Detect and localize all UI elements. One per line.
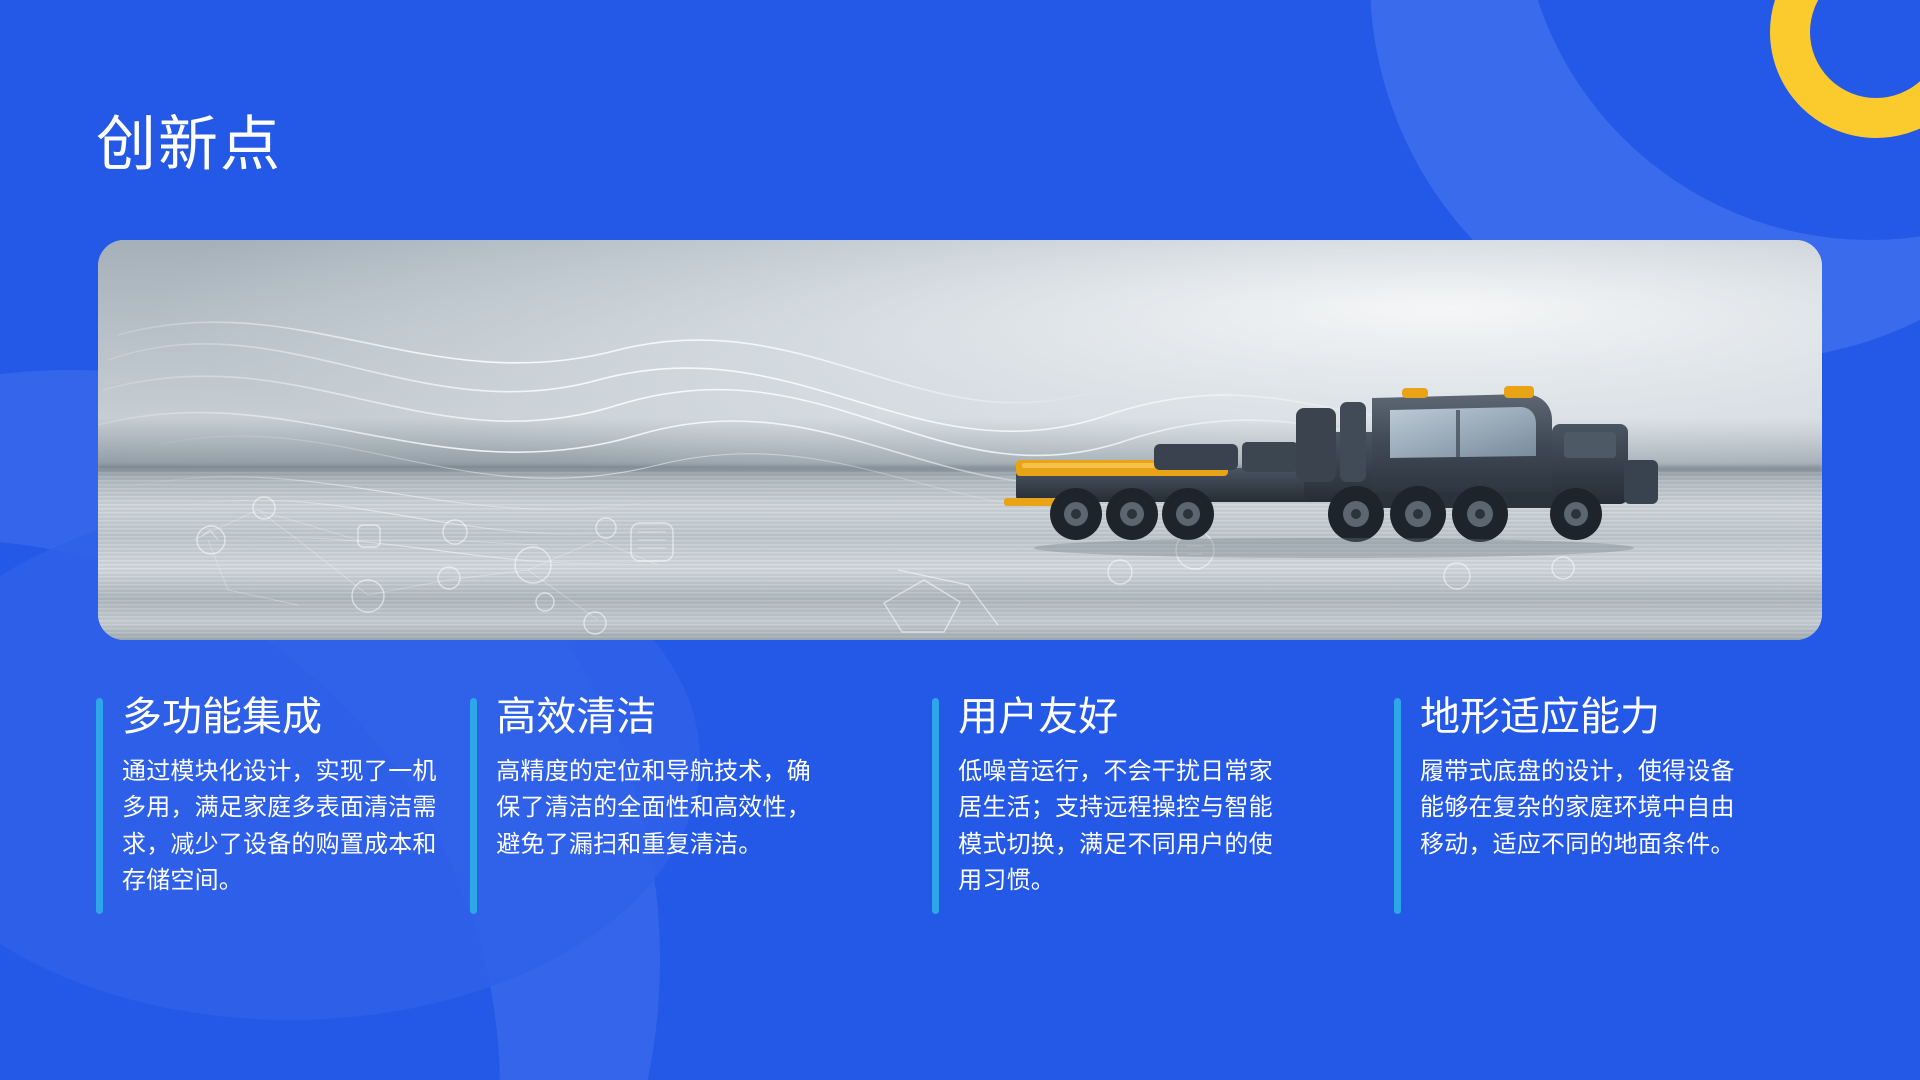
feature-body: 低噪音运行，不会干扰日常家居生活；支持远程操控与智能模式切换，满足不同用户的使用…	[958, 754, 1278, 900]
feature-body: 通过模块化设计，实现了一机多用，满足家庭多表面清洁需求，减少了设备的购置成本和存…	[122, 754, 452, 900]
feature-body: 高精度的定位和导航技术，确保了清洁的全面性和高效性，避免了漏扫和重复清洁。	[496, 754, 816, 863]
feature-column-2: 高效清洁 高精度的定位和导航技术，确保了清洁的全面性和高效性，避免了漏扫和重复清…	[470, 692, 930, 900]
feature-column-3: 用户友好 低噪音运行，不会干扰日常家居生活；支持远程操控与智能模式切换，满足不同…	[932, 692, 1392, 900]
feature-accent-bar	[932, 698, 939, 914]
page-title: 创新点	[96, 112, 282, 178]
feature-body: 履带式底盘的设计，使得设备能够在复杂的家庭环境中自由移动，适应不同的地面条件。	[1420, 754, 1750, 863]
feature-title: 地形适应能力	[1420, 692, 1834, 742]
feature-columns: 多功能集成 通过模块化设计，实现了一机多用，满足家庭多表面清洁需求，减少了设备的…	[96, 692, 1836, 900]
feature-title: 高效清洁	[496, 692, 930, 742]
feature-column-1: 多功能集成 通过模块化设计，实现了一机多用，满足家庭多表面清洁需求，减少了设备的…	[96, 692, 468, 900]
feature-column-4: 地形适应能力 履带式底盘的设计，使得设备能够在复杂的家庭环境中自由移动，适应不同…	[1394, 692, 1834, 900]
truck-illustration	[1004, 372, 1704, 582]
feature-accent-bar	[1394, 698, 1401, 914]
slide-canvas: 创新点	[0, 0, 1920, 1080]
hero-image-banner	[98, 240, 1822, 640]
feature-accent-bar	[96, 698, 103, 914]
feature-title: 多功能集成	[122, 692, 468, 742]
feature-title: 用户友好	[958, 692, 1392, 742]
feature-accent-bar	[470, 698, 477, 914]
